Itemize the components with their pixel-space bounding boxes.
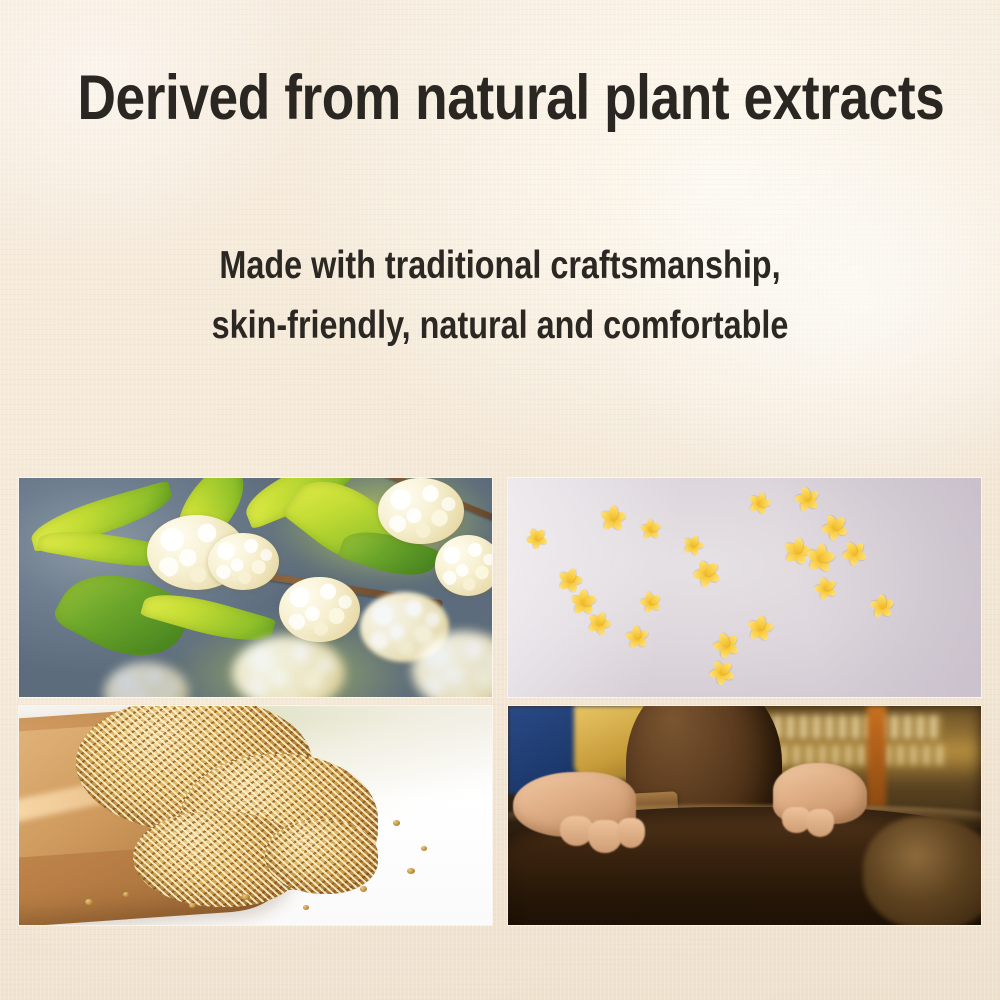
page-title: Derived from natural plant extracts — [78, 62, 923, 134]
blossom — [787, 479, 826, 518]
photo-dried-osmanthus-scoop — [19, 706, 492, 925]
photo-grinding-wheel — [508, 706, 981, 925]
blossom — [593, 499, 632, 537]
blossom — [522, 524, 551, 552]
dried-flower-heap — [265, 820, 379, 894]
dried-flower-crumb — [85, 899, 93, 905]
dried-flower-crumb — [407, 868, 415, 874]
blossom — [864, 588, 901, 624]
blossom — [688, 554, 728, 592]
subtitle-line-2: skin-friendly, natural and comfortable — [85, 296, 915, 356]
blossom — [704, 655, 739, 688]
blossom-cluster — [435, 535, 492, 596]
blossom — [808, 571, 843, 605]
photo-osmanthus-blossoms — [508, 478, 981, 697]
branch-scene — [19, 478, 492, 697]
blossom — [680, 532, 706, 557]
shelf-post — [867, 706, 886, 807]
photo-osmanthus-branch — [19, 478, 492, 697]
workshop-scene — [508, 706, 981, 925]
blossom — [634, 513, 667, 546]
blossom-cluster — [378, 478, 463, 544]
subtitle-block: Made with traditional craftsmanship, ski… — [85, 236, 915, 356]
subtitle-line-1: Made with traditional craftsmanship, — [85, 236, 915, 296]
ground-material-pile — [863, 816, 981, 926]
blossom — [618, 619, 654, 655]
scoop-scene — [19, 706, 492, 925]
blossom-cluster — [279, 577, 359, 643]
dried-flower-crumb — [421, 846, 427, 851]
blossom — [743, 486, 776, 520]
blossom — [584, 609, 613, 637]
photo-gallery-grid — [19, 478, 981, 925]
shelf — [754, 745, 943, 765]
scattered-blossoms — [508, 478, 981, 697]
dried-flower-crumb — [360, 886, 367, 892]
blossom — [634, 585, 667, 617]
dried-flower-crumb — [393, 820, 400, 826]
blossom — [741, 609, 779, 646]
product-feature-poster: Derived from natural plant extracts Made… — [0, 0, 1000, 1000]
blossom-cluster — [208, 533, 279, 590]
dried-flower-crumb — [303, 905, 309, 910]
